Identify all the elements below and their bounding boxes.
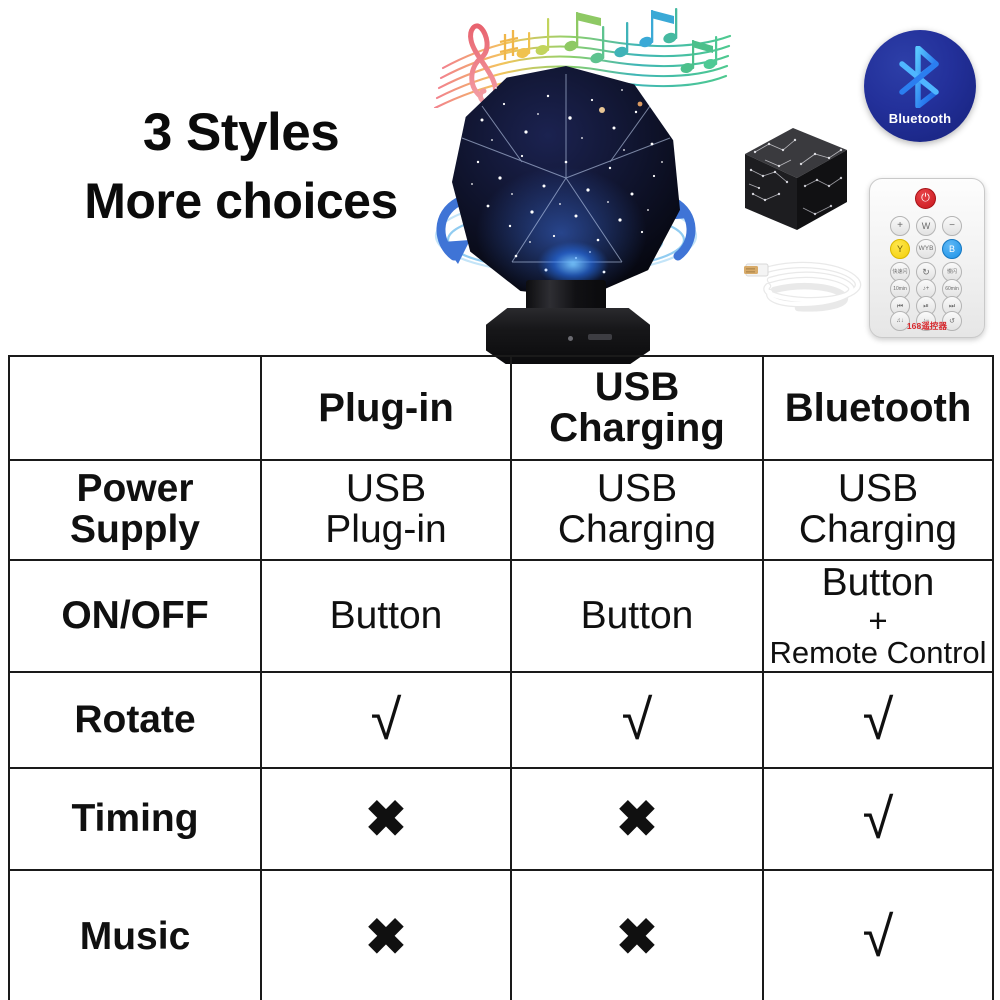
- row-label-rotate: Rotate: [9, 672, 261, 768]
- page-title: 3 Styles More choices: [46, 98, 436, 234]
- header-cell-usb-charging: USB Charging: [511, 356, 763, 460]
- remote-model-label: 168遥控器: [869, 320, 985, 332]
- remote-button-w: W: [916, 216, 936, 236]
- cell-on-off-usb: Button: [511, 560, 763, 672]
- cell-timing-usb: ✖: [511, 768, 763, 870]
- remote-button-wyb: WYB: [916, 239, 936, 259]
- row-label-power-supply: Power Supply: [9, 460, 261, 560]
- projector-globe: [452, 66, 680, 298]
- remote-button-minus: −: [942, 216, 962, 236]
- cell-plus-sign: +: [768, 604, 988, 637]
- usb-port: [588, 334, 612, 340]
- cell-on-off-bluetooth: Button + Remote Control: [763, 560, 993, 672]
- cell-timing-plugin: ✖: [261, 768, 511, 870]
- product-box-image: [735, 124, 855, 236]
- remote-power-button: ⏻: [915, 188, 936, 209]
- cell-rotate-bluetooth: √: [763, 672, 993, 768]
- base-indicator: [568, 336, 573, 341]
- usb-cable-image: [740, 244, 870, 320]
- table-row-rotate: Rotate √ √ √: [9, 672, 993, 768]
- cell-music-usb: ✖: [511, 870, 763, 1000]
- row-label-line-2: Supply: [70, 508, 200, 551]
- remote-button-y: Y: [890, 239, 910, 259]
- table-header-row: Plug-in USB Charging Bluetooth: [9, 356, 993, 460]
- bluetooth-badge: Bluetooth: [864, 30, 976, 142]
- headline-line-2: More choices: [46, 168, 436, 234]
- cell-line-2: Charging: [558, 508, 716, 551]
- cell-rotate-plugin: √: [261, 672, 511, 768]
- cell-line-2: Plug-in: [325, 508, 446, 551]
- cell-line-1: USB: [597, 467, 677, 510]
- star-projector-lamp: [438, 66, 694, 358]
- cell-power-supply-usb: USB Charging: [511, 460, 763, 560]
- row-label-music: Music: [9, 870, 261, 1000]
- comparison-table-wrapper: Plug-in USB Charging Bluetooth Power Sup…: [8, 355, 992, 988]
- cell-rotate-usb: √: [511, 672, 763, 768]
- header-usb-line-2: Charging: [549, 406, 725, 450]
- cell-music-bluetooth: √: [763, 870, 993, 1000]
- table-row-on-off: ON/OFF Button Button Button + Remote Con…: [9, 560, 993, 672]
- row-label-timing: Timing: [9, 768, 261, 870]
- bluetooth-badge-label: Bluetooth: [864, 111, 976, 126]
- header-usb-line-1: USB: [595, 365, 679, 409]
- row-label-line-1: Power: [76, 467, 193, 510]
- remote-button-b: B: [942, 239, 962, 259]
- cell-line-3: Remote Control: [768, 637, 988, 670]
- remote-button-plus: +: [890, 216, 910, 236]
- table-row-power-supply: Power Supply USB Plug-in USB Charging US…: [9, 460, 993, 560]
- row-label-on-off: ON/OFF: [9, 560, 261, 672]
- header-cell-blank: [9, 356, 261, 460]
- comparison-table: Plug-in USB Charging Bluetooth Power Sup…: [8, 355, 994, 1000]
- bluetooth-icon: [892, 46, 948, 108]
- headline-line-1: 3 Styles: [143, 103, 339, 162]
- hero-section: 3 Styles More choices: [0, 0, 1000, 352]
- cell-power-supply-bluetooth: USB Charging: [763, 460, 993, 560]
- table-row-music: Music ✖ ✖ √: [9, 870, 993, 1000]
- product-comparison-infographic: 3 Styles More choices: [0, 0, 1000, 1000]
- cell-timing-bluetooth: √: [763, 768, 993, 870]
- header-cell-plugin: Plug-in: [261, 356, 511, 460]
- cell-on-off-plugin: Button: [261, 560, 511, 672]
- header-cell-bluetooth: Bluetooth: [763, 356, 993, 460]
- remote-control-image: ⏻ + W − Y WYB B 快速闪 ↻ 慢闪 10min ♪+ 60min …: [869, 178, 985, 338]
- cell-power-supply-plugin: USB Plug-in: [261, 460, 511, 560]
- cell-music-plugin: ✖: [261, 870, 511, 1000]
- cell-line-1: USB: [346, 467, 426, 510]
- cell-line-1: USB: [838, 467, 918, 510]
- table-row-timing: Timing ✖ ✖ √: [9, 768, 993, 870]
- cell-line-2: Charging: [799, 508, 957, 551]
- cell-line-1: Button: [822, 561, 935, 604]
